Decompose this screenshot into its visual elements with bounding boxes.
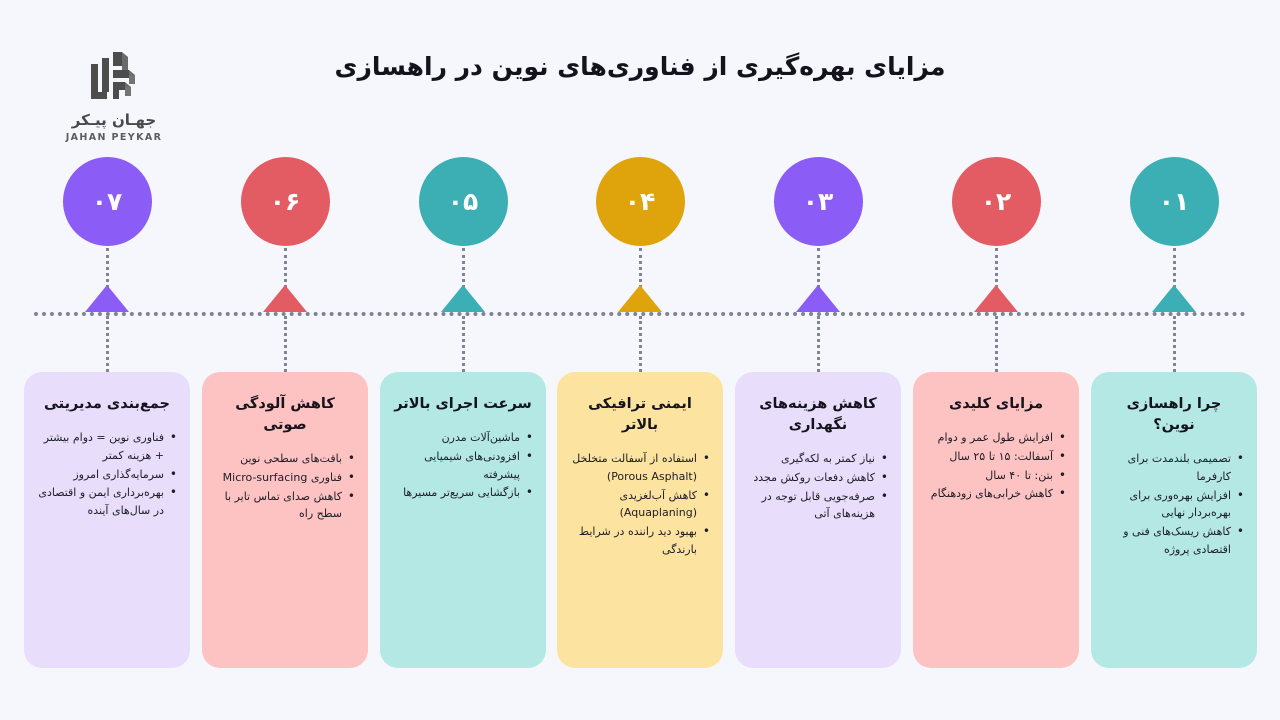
list-item: افزودنی‌های شیمیایی پیشرفته — [393, 448, 533, 484]
list-item: افزایش طول عمر و دوام — [926, 429, 1066, 447]
step-circle-۰۲[interactable]: ۰۲ — [952, 157, 1041, 246]
connector-lower — [1173, 316, 1176, 372]
list-item: سرمایه‌گذاری امروز — [37, 466, 177, 484]
list-item: نیاز کمتر به لکه‌گیری — [748, 450, 888, 468]
list-item: بهبود دید راننده در شرایط بارندگی — [570, 523, 710, 559]
card-title: ایمنی ترافیکی بالاتر — [570, 394, 710, 436]
brand-name-fa: جهـان پیـکر — [62, 112, 166, 129]
info-card-۰۳[interactable]: کاهش هزینه‌های نگهدارینیاز کمتر به لکه‌گ… — [735, 372, 901, 668]
axis-marker-triangle — [441, 285, 485, 312]
list-item: استفاده از آسفالت متخلخل (Porous Asphalt… — [570, 450, 710, 486]
connector-lower — [284, 316, 287, 372]
connector-lower — [639, 316, 642, 372]
axis-marker-triangle — [1152, 285, 1196, 312]
connector-lower — [995, 316, 998, 372]
infographic-canvas: جهـان پیـکر JAHAN PEYKAR مزایای بهره‌گیر… — [0, 0, 1280, 720]
step-circle-۰۴[interactable]: ۰۴ — [596, 157, 685, 246]
step-circle-۰۱[interactable]: ۰۱ — [1130, 157, 1219, 246]
card-title: جمع‌بندی مدیریتی — [44, 394, 170, 415]
list-item: کاهش دفعات روکش مجدد — [748, 469, 888, 487]
info-card-۰۷[interactable]: جمع‌بندی مدیریتیفناوری نوین = دوام بیشتر… — [24, 372, 190, 668]
list-item: آسفالت: ۱۵ تا ۲۵ سال — [926, 448, 1066, 466]
step-number: ۰۱ — [1159, 187, 1190, 216]
step-circle-۰۷[interactable]: ۰۷ — [63, 157, 152, 246]
list-item: کاهش صدای تماس تایر با سطح راه — [215, 488, 355, 524]
step-number: ۰۴ — [625, 187, 656, 216]
step-number: ۰۶ — [270, 187, 301, 216]
card-bullet-list: ماشین‌آلات مدرنافزودنی‌های شیمیایی پیشرف… — [393, 429, 533, 503]
step-number: ۰۲ — [981, 187, 1012, 216]
card-title: چرا راهسازی نوین؟ — [1104, 394, 1244, 436]
connector-lower — [462, 316, 465, 372]
connector-lower — [106, 316, 109, 372]
step-number: ۰۵ — [448, 187, 479, 216]
card-bullet-list: تصمیمی بلندمدت برای کارفرماافزایش بهره‌و… — [1104, 450, 1244, 560]
list-item: بافت‌های سطحی نوین — [215, 450, 355, 468]
card-bullet-list: نیاز کمتر به لکه‌گیریکاهش دفعات روکش مجد… — [748, 450, 888, 524]
connector-lower — [817, 316, 820, 372]
card-bullet-list: بافت‌های سطحی نوینفناوری Micro-surfacing… — [215, 450, 355, 524]
card-title: مزایای کلیدی — [949, 394, 1043, 415]
card-title: کاهش هزینه‌های نگهداری — [748, 394, 888, 436]
step-circle-۰۵[interactable]: ۰۵ — [419, 157, 508, 246]
list-item: فناوری Micro-surfacing — [215, 469, 355, 487]
list-item: افزایش بهره‌وری برای بهره‌بردار نهایی — [1104, 487, 1244, 523]
card-title: کاهش آلودگی صوتی — [215, 394, 355, 436]
axis-marker-triangle — [796, 285, 840, 312]
list-item: بتن: تا ۴۰ سال — [926, 467, 1066, 485]
step-circle-۰۶[interactable]: ۰۶ — [241, 157, 330, 246]
step-number: ۰۷ — [92, 187, 123, 216]
card-bullet-list: فناوری نوین = دوام بیشتر + هزینه کمترسرم… — [37, 429, 177, 521]
list-item: ماشین‌آلات مدرن — [393, 429, 533, 447]
page-title: مزایای بهره‌گیری از فناوری‌های نوین در ر… — [0, 52, 1280, 81]
card-title: سرعت اجرای بالاتر — [394, 394, 531, 415]
axis-marker-triangle — [618, 285, 662, 312]
step-circle-۰۳[interactable]: ۰۳ — [774, 157, 863, 246]
info-card-۰۵[interactable]: سرعت اجرای بالاترماشین‌آلات مدرنافزودنی‌… — [380, 372, 546, 668]
list-item: کاهش آب‌لغزیدی (Aquaplaning) — [570, 487, 710, 523]
list-item: کاهش ریسک‌های فنی و اقتصادی پروژه — [1104, 523, 1244, 559]
list-item: بهره‌برداری ایمن و اقتصادی در سال‌های آی… — [37, 484, 177, 520]
list-item: تصمیمی بلندمدت برای کارفرما — [1104, 450, 1244, 486]
axis-marker-triangle — [85, 285, 129, 312]
info-card-۰۲[interactable]: مزایای کلیدیافزایش طول عمر و دوامآسفالت:… — [913, 372, 1079, 668]
info-card-۰۶[interactable]: کاهش آلودگی صوتیبافت‌های سطحی نوینفناوری… — [202, 372, 368, 668]
card-bullet-list: استفاده از آسفالت متخلخل (Porous Asphalt… — [570, 450, 710, 560]
brand-name-en: JAHAN PEYKAR — [62, 132, 166, 143]
list-item: بازگشایی سریع‌تر مسیرها — [393, 484, 533, 502]
step-number: ۰۳ — [803, 187, 834, 216]
info-card-۰۴[interactable]: ایمنی ترافیکی بالاتراستفاده از آسفالت مت… — [557, 372, 723, 668]
axis-marker-triangle — [974, 285, 1018, 312]
list-item: صرفه‌جویی قابل توجه در هزینه‌های آتی — [748, 488, 888, 524]
list-item: کاهش خرابی‌های زودهنگام — [926, 485, 1066, 503]
card-bullet-list: افزایش طول عمر و دوامآسفالت: ۱۵ تا ۲۵ سا… — [926, 429, 1066, 504]
list-item: فناوری نوین = دوام بیشتر + هزینه کمتر — [37, 429, 177, 465]
axis-marker-triangle — [263, 285, 307, 312]
info-card-۰۱[interactable]: چرا راهسازی نوین؟تصمیمی بلندمدت برای کار… — [1091, 372, 1257, 668]
